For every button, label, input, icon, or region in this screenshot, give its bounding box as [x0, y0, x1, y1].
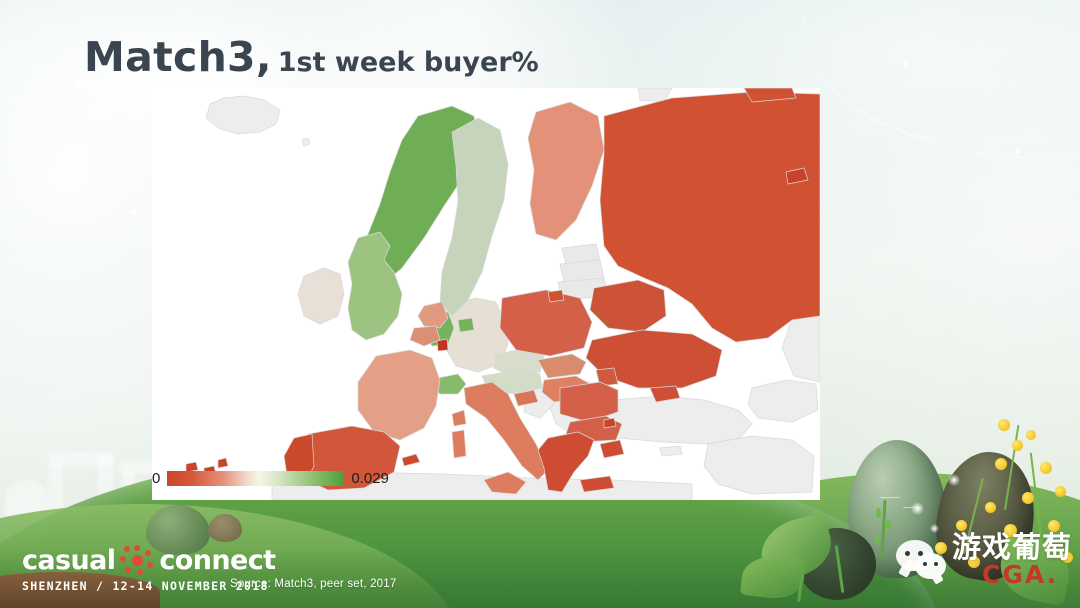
country-finland	[528, 102, 604, 240]
canary-islands	[218, 458, 228, 468]
casual-connect-logo: casual connect SHENZHEN / 12-14 NOVEMBER…	[22, 545, 275, 593]
yellow-flower-icon	[1026, 430, 1036, 440]
yellow-flower-icon	[998, 419, 1010, 431]
yellow-flower-icon	[1055, 486, 1066, 497]
grass-sprig	[886, 520, 891, 530]
map-legend: 0 0.029	[152, 470, 389, 487]
watermark-brand: CGA.	[982, 560, 1072, 589]
yellow-flower-icon	[1022, 492, 1034, 504]
country-france	[358, 350, 440, 440]
glow-dot-icon	[911, 502, 924, 515]
country-luxembourg	[437, 339, 448, 351]
title-subtitle: 1st week buyer%	[278, 47, 539, 78]
country-denmark-zealand	[458, 318, 474, 332]
wechat-icon	[896, 540, 948, 582]
sparkle-dot-icon	[131, 210, 136, 215]
title-main: Match3,	[84, 33, 272, 81]
region-kaliningrad	[548, 290, 564, 302]
flower-mark-icon	[120, 545, 154, 575]
country-netherlands	[418, 302, 448, 328]
country-cyprus	[660, 446, 682, 456]
yellow-flower-icon	[1012, 440, 1023, 451]
watermark-brand-dot: .	[1047, 560, 1059, 589]
aegean-speck	[604, 418, 616, 428]
country-balearic-islands	[402, 454, 420, 466]
legend-gradient-bar	[167, 471, 344, 486]
country-caucasus	[748, 380, 818, 422]
country-kazakhstan	[782, 314, 820, 382]
legend-min-label: 0	[152, 470, 160, 487]
country-sardinia	[452, 430, 466, 458]
country-corsica	[452, 410, 466, 426]
legend-max-label: 0.029	[351, 470, 389, 487]
country-middle-east	[704, 436, 814, 494]
country-iceland	[206, 96, 280, 134]
sparkle-dot-icon	[1016, 150, 1020, 154]
logo-word-casual: casual	[22, 547, 115, 574]
sparkle-dot-icon	[903, 62, 908, 67]
slide-canvas: 0 0.029 Match3,1st week buyer% Source: M…	[0, 0, 1080, 608]
country-slovakia	[538, 354, 586, 378]
glow-dot-icon	[930, 524, 939, 533]
grass-sprig	[875, 534, 880, 544]
stone-decoration	[208, 514, 242, 542]
monument-silhouette	[48, 451, 114, 466]
greek-islands	[600, 440, 624, 458]
grass-sprig	[876, 508, 881, 518]
yellow-flower-icon	[995, 458, 1007, 470]
watermark-chinese-name: 游戏葡萄	[952, 533, 1072, 562]
europe-choropleth-map[interactable]	[152, 88, 820, 500]
glow-dot-icon	[948, 474, 960, 486]
yellow-flower-icon	[985, 502, 996, 513]
sparkle-dot-icon	[77, 79, 84, 86]
logo-subtitle: SHENZHEN / 12-14 NOVEMBER 2018	[22, 579, 275, 593]
yellow-flower-icon	[1040, 462, 1052, 474]
wechat-watermark: 游戏葡萄 CGA.	[896, 533, 1072, 589]
watermark-brand-text: CGA	[982, 560, 1047, 589]
page-title: Match3,1st week buyer%	[84, 33, 539, 81]
logo-word-connect: connect	[159, 547, 275, 574]
country-ireland	[298, 268, 344, 324]
country-poland	[500, 290, 592, 356]
country-belarus	[590, 280, 666, 332]
choropleth-map-panel[interactable]	[152, 88, 820, 500]
